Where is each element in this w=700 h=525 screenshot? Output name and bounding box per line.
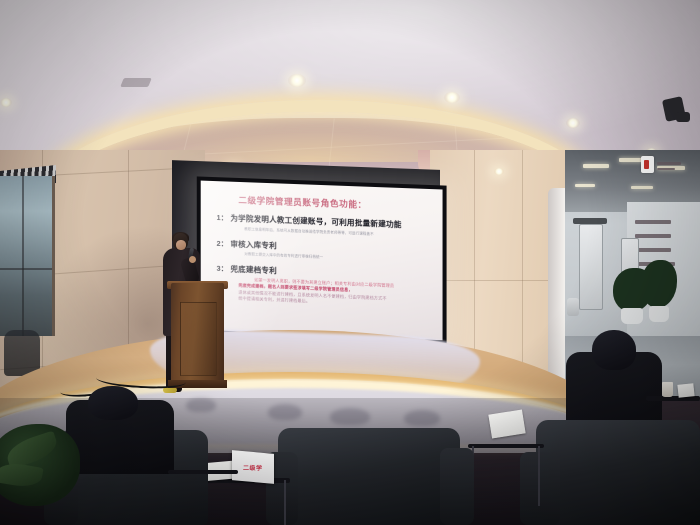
slide-item-number: 3： (217, 263, 231, 275)
table-leg (538, 446, 540, 506)
downlight-icon (288, 74, 306, 87)
speaker-face (176, 240, 186, 250)
stage-shadow (186, 398, 216, 412)
window-mullion (0, 268, 52, 270)
projector-body (676, 112, 690, 122)
signage-text-line (635, 220, 671, 224)
audience-head (592, 330, 636, 370)
stage-shadow (330, 408, 370, 425)
side-table (468, 444, 544, 448)
table-leg (284, 480, 286, 525)
ceiling-vent (120, 78, 152, 87)
side-table (646, 396, 700, 401)
downlight-icon (566, 118, 580, 128)
signage-text-line (657, 168, 675, 170)
plant-pot (621, 308, 643, 324)
stage-shadow (268, 404, 302, 420)
armchair-arm (520, 452, 560, 525)
ceiling-light-panel (583, 164, 609, 168)
slide-red-paragraph: 如第一发明人离职，则不要为其建立账户；相关专利由对应二级学院管理员 兜底完成建档… (238, 277, 434, 311)
ceiling-light-panel (631, 186, 653, 189)
armchair-center (278, 428, 460, 525)
slide-item-heading: 审核入库专利 (230, 238, 276, 251)
signage-text-line (635, 234, 671, 238)
downlight-icon (494, 168, 504, 175)
signage-text-line (635, 248, 671, 252)
slide-item-number: 2： (217, 237, 231, 249)
wall-panel-seam (430, 280, 565, 281)
audience-head (88, 386, 138, 420)
name-placard[interactable]: 二级学 (232, 450, 274, 484)
slide-item-number: 1： (217, 212, 231, 223)
downlight-icon (0, 98, 12, 107)
trash-bin (567, 298, 579, 316)
downlight-icon (444, 92, 460, 103)
placard-text: 二级学 (243, 462, 263, 471)
plant-pot (649, 306, 669, 322)
conference-hall-photo: 二级学院管理员账号角色功能： 1： 为学院发明人教工创建账号，可利用批量新建功能… (0, 0, 700, 525)
armchair-right (536, 420, 700, 525)
slide-item-heading: 兜底建档专利 (230, 263, 276, 276)
logo-mark-icon (644, 160, 649, 169)
signage-text-line (657, 162, 681, 165)
exterior-window (0, 176, 55, 336)
paper-sheet (677, 383, 694, 398)
security-gate-header (573, 218, 607, 224)
podium-front-panel (180, 302, 217, 376)
projection-screen-frame: 二级学院管理员账号角色功能： 1： 为学院发明人教工创建账号，可利用批量新建功能… (197, 176, 447, 344)
cup (662, 382, 673, 397)
side-table (168, 470, 238, 474)
speaker-hand (189, 256, 196, 263)
security-gate (579, 224, 603, 310)
slide-content: 二级学院管理员账号角色功能： 1： 为学院发明人教工创建账号，可利用批量新建功能… (217, 193, 435, 310)
slide-title: 二级学院管理员账号角色功能： (238, 194, 434, 213)
ceiling-light-panel (575, 184, 595, 187)
projection-screen: 二级学院管理员账号角色功能： 1： 为学院发明人教工创建账号，可利用批量新建功能… (201, 181, 443, 341)
window-mullion (22, 176, 24, 336)
stage-shadow (404, 410, 440, 426)
armchair-arm (440, 448, 474, 525)
